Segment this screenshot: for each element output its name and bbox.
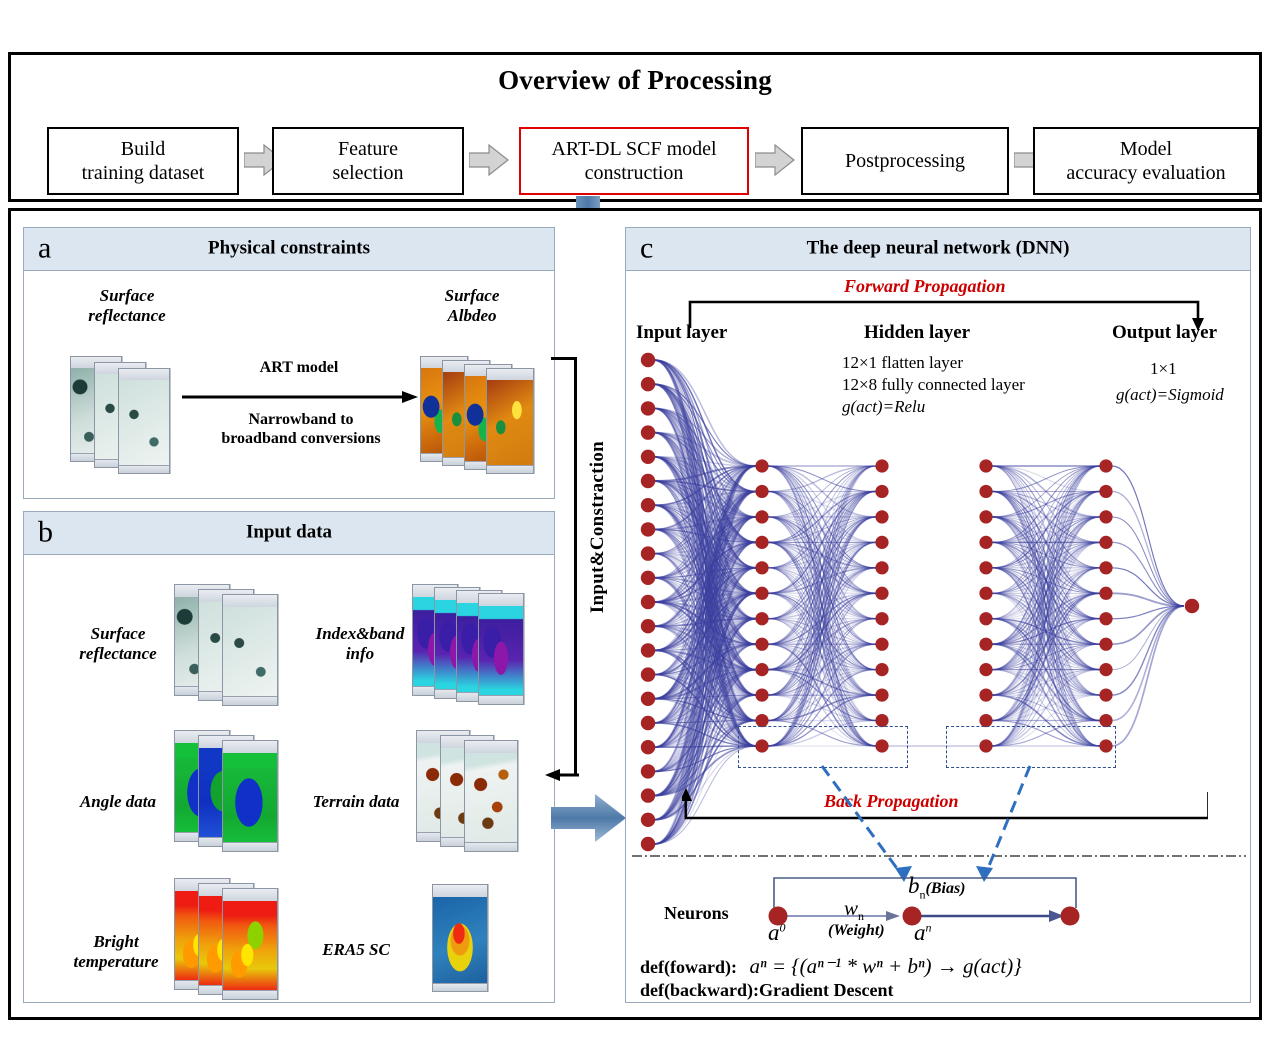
dnn-node xyxy=(641,813,655,827)
symbol-a0: a0 xyxy=(768,920,786,946)
label-era5-sc: ERA5 SC xyxy=(286,940,426,960)
connector-bracket-top xyxy=(551,357,577,360)
flow-step-postprocessing[interactable]: Postprocessing xyxy=(801,127,1009,195)
dnn-node xyxy=(641,474,655,488)
image-stack-bright-temperature xyxy=(174,878,284,1002)
dnn-node xyxy=(875,459,888,472)
page-title: Overview of Processing xyxy=(11,65,1259,96)
dnn-node xyxy=(641,425,655,439)
dnn-node xyxy=(979,688,992,701)
image-stack-era5-sc xyxy=(432,884,502,1002)
dnn-node xyxy=(875,688,888,701)
overview-frame: Overview of Processing Build training da… xyxy=(8,52,1262,202)
label-weight-note: (Weight) xyxy=(828,922,885,940)
dnn-node xyxy=(641,353,655,367)
dnn-node xyxy=(755,485,768,498)
dnn-node xyxy=(641,740,655,754)
dnn-node xyxy=(1099,612,1112,625)
dnn-node xyxy=(641,643,655,657)
flow-step-label: Build training dataset xyxy=(82,137,205,186)
dnn-node xyxy=(641,619,655,633)
dnn-node xyxy=(1099,561,1112,574)
label-surface-albdeo: Surface Albdeo xyxy=(402,286,542,326)
image-stack-angle-data xyxy=(174,730,284,854)
dnn-node xyxy=(979,612,992,625)
dnn-node xyxy=(755,561,768,574)
label-bright-temperature: Bright temperature xyxy=(46,932,186,972)
flow-step-label: Model accuracy evaluation xyxy=(1066,137,1225,186)
dnn-node xyxy=(641,571,655,585)
callout-lines xyxy=(726,762,1156,882)
dnn-node xyxy=(1099,536,1112,549)
right-arrow-icon xyxy=(755,143,795,177)
right-arrow-icon xyxy=(551,791,627,845)
dnn-node xyxy=(875,638,888,651)
image-stack-surface-albdeo xyxy=(420,356,548,474)
dnn-node xyxy=(1185,599,1199,613)
dnn-node xyxy=(641,546,655,560)
dnn-node xyxy=(979,561,992,574)
label-neurons: Neurons xyxy=(664,903,729,924)
dnn-node xyxy=(641,667,655,681)
dnn-node xyxy=(641,595,655,609)
flow-step-build-training-dataset[interactable]: Build training dataset xyxy=(47,127,239,195)
dnn-node xyxy=(1099,510,1112,523)
label-index-band-info: Index&band info xyxy=(292,624,428,664)
dnn-node xyxy=(875,485,888,498)
flow-step-feature-selection[interactable]: Feature selection xyxy=(272,127,464,195)
dnn-node xyxy=(755,587,768,600)
panel-deep-neural-network: c The deep neural network (DNN) Forward … xyxy=(625,227,1251,1003)
image-stack-surface-reflectance xyxy=(70,356,174,474)
dnn-node xyxy=(641,498,655,512)
flow-step-label: ART-DL SCF model construction xyxy=(551,137,716,186)
dnn-node xyxy=(641,401,655,415)
label-surface-reflectance: Surface reflectance xyxy=(48,624,188,664)
dnn-node xyxy=(875,510,888,523)
image-stack-terrain-data xyxy=(416,730,538,854)
dnn-node xyxy=(641,450,655,464)
equation-forward: def(foward): aⁿ = {(aⁿ⁻¹ * wⁿ + bⁿ) → g(… xyxy=(640,954,1022,979)
dnn-node xyxy=(1099,688,1112,701)
panel-physical-constraints: a Physical constraints Surface reflectan… xyxy=(23,227,555,499)
dnn-node xyxy=(641,764,655,778)
label-narrowband-to-broadband: Narrowband to broadband conversions xyxy=(174,410,428,448)
label-terrain-data: Terrain data xyxy=(286,792,426,812)
dnn-node xyxy=(979,638,992,651)
dnn-node xyxy=(875,587,888,600)
dnn-node xyxy=(979,663,992,676)
dnn-node xyxy=(641,377,655,391)
panel-b-header: b Input data xyxy=(24,512,554,555)
image-stack-index-band-info xyxy=(412,584,538,708)
dnn-node xyxy=(755,536,768,549)
dnn-node xyxy=(1099,587,1112,600)
dnn-node xyxy=(641,716,655,730)
flow-step-model-accuracy-evaluation[interactable]: Model accuracy evaluation xyxy=(1033,127,1259,195)
panels-frame: a Physical constraints Surface reflectan… xyxy=(8,208,1262,1020)
dnn-node xyxy=(755,510,768,523)
dnn-node xyxy=(1099,638,1112,651)
panel-b-title: Input data xyxy=(24,522,554,544)
dnn-node xyxy=(979,587,992,600)
process-arrow-icon xyxy=(182,390,418,404)
dnn-node xyxy=(875,561,888,574)
dnn-node xyxy=(875,663,888,676)
dnn-node xyxy=(1099,459,1112,472)
dnn-node xyxy=(641,522,655,536)
label-surface-reflectance: Surface reflectance xyxy=(52,286,202,326)
image-stack-surface-reflectance xyxy=(174,584,284,708)
dnn-node xyxy=(755,688,768,701)
label-input-and-constraction: Input&Constraction xyxy=(587,441,609,613)
symbol-bias: bn(Bias) xyxy=(908,873,966,903)
dnn-node xyxy=(755,459,768,472)
dnn-node xyxy=(875,612,888,625)
connector-bracket-arrow-icon xyxy=(545,767,579,783)
symbol-an: an xyxy=(914,920,932,946)
right-arrow-icon xyxy=(469,143,509,177)
dnn-node xyxy=(755,663,768,676)
flow-step-label: Postprocessing xyxy=(845,149,965,173)
panel-a-header: a Physical constraints xyxy=(24,228,554,271)
connector-bracket-vertical xyxy=(574,357,577,775)
dnn-node xyxy=(979,485,992,498)
label-angle-data: Angle data xyxy=(48,792,188,812)
dnn-node xyxy=(979,510,992,523)
symbol-weight: wn xyxy=(844,896,864,924)
label-art-model: ART model xyxy=(184,358,414,377)
flow-step-label: Feature selection xyxy=(332,137,403,186)
dnn-node xyxy=(979,459,992,472)
panel-input-data: b Input data Surface reflectance Index&b… xyxy=(23,511,555,1003)
flow-step-art-dl-scf-model-construction[interactable]: ART-DL SCF model construction xyxy=(519,127,749,195)
dnn-node xyxy=(1099,485,1112,498)
dnn-node xyxy=(1099,663,1112,676)
dnn-node xyxy=(641,692,655,706)
dnn-node xyxy=(755,612,768,625)
dnn-node xyxy=(979,536,992,549)
dnn-node xyxy=(875,536,888,549)
dnn-node xyxy=(755,638,768,651)
panel-a-title: Physical constraints xyxy=(24,238,554,260)
dnn-node xyxy=(641,837,655,851)
dnn-node xyxy=(641,788,655,802)
equation-backward: def(backward):Gradient Descent xyxy=(640,980,893,1001)
